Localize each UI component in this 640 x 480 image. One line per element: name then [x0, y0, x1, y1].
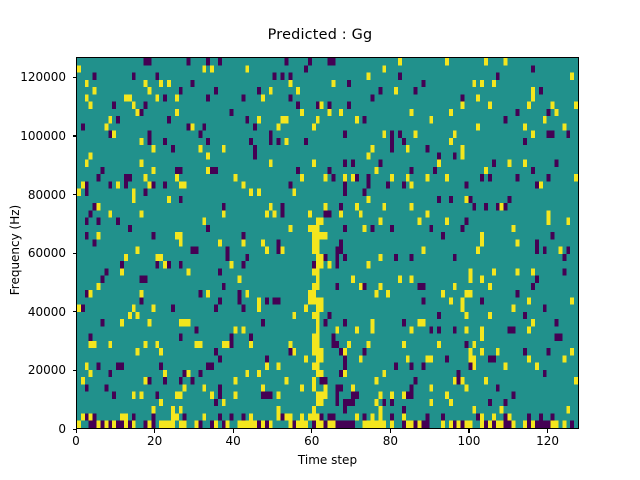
x-tick-label: 120 [513, 434, 583, 448]
heatmap-image [77, 58, 578, 428]
x-tick-mark [390, 429, 391, 433]
x-tick-label: 20 [120, 434, 190, 448]
x-tick-label: 80 [355, 434, 425, 448]
y-axis-label: Frequency (Hz) [8, 150, 22, 350]
y-tick-mark [73, 135, 77, 136]
y-tick-label: 20000 [0, 363, 66, 377]
x-tick-label: 100 [434, 434, 504, 448]
heatmap-plot-area [76, 57, 579, 429]
y-tick-label: 120000 [0, 70, 66, 84]
x-tick-mark [154, 429, 155, 433]
page-title: Predicted : Gg [0, 27, 640, 43]
y-tick-mark [73, 77, 77, 78]
y-tick-mark [73, 311, 77, 312]
x-tick-mark [547, 429, 548, 433]
x-tick-mark [233, 429, 234, 433]
x-tick-mark [311, 429, 312, 433]
x-tick-label: 0 [41, 434, 111, 448]
y-tick-label: 100000 [0, 129, 66, 143]
x-tick-label: 60 [277, 434, 347, 448]
y-tick-mark [73, 370, 77, 371]
x-axis-label: Time step [76, 453, 579, 467]
x-tick-mark [468, 429, 469, 433]
y-tick-mark [73, 253, 77, 254]
y-tick-mark [73, 194, 77, 195]
figure-canvas: Predicted : Gg 0200004000060000800001000… [0, 0, 640, 480]
x-tick-mark [76, 429, 77, 433]
x-tick-label: 40 [198, 434, 268, 448]
